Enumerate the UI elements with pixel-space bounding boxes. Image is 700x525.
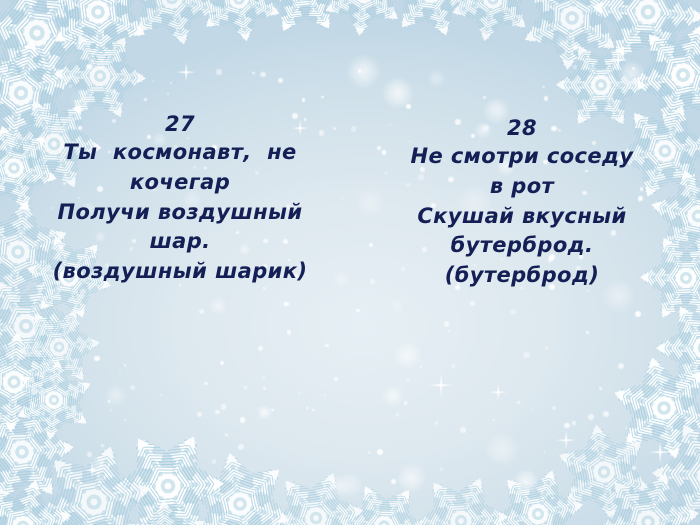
riddle-number: 27: [28, 111, 332, 138]
riddle-answer: (бутерброд): [370, 261, 674, 291]
riddle-card-27: 27 Ты космонавт, не кочегар Получи возду…: [0, 0, 350, 287]
riddle-columns: 27 Ты космонавт, не кочегар Получи возду…: [0, 0, 700, 525]
riddle-line: Ты космонавт, не: [28, 138, 332, 168]
winter-riddle-slide: 27 Ты космонавт, не кочегар Получи возду…: [0, 0, 700, 525]
riddle-line: в рот: [370, 172, 674, 202]
riddle-card-28: 28 Не смотри соседу в рот Скушай вкусный…: [350, 0, 700, 291]
riddle-line: шар.: [28, 227, 332, 257]
riddle-line: кочегар: [28, 168, 332, 198]
riddle-line: Скушай вкусный: [370, 202, 674, 232]
riddle-number: 28: [370, 115, 674, 142]
riddle-line: Не смотри соседу: [370, 142, 674, 172]
riddle-line: бутерброд.: [370, 231, 674, 261]
riddle-line: Получи воздушный: [28, 198, 332, 228]
riddle-answer: (воздушный шарик): [28, 257, 332, 287]
